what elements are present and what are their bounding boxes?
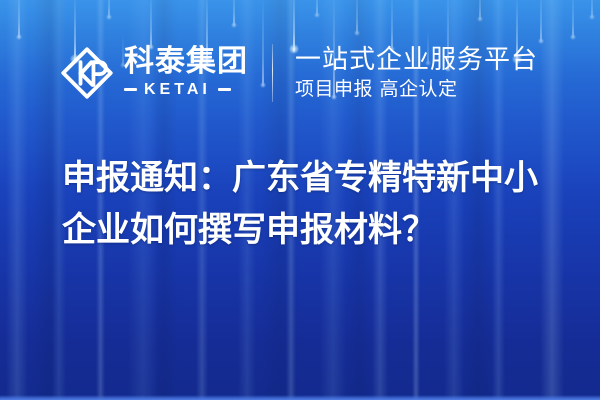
light-particle	[572, 0, 574, 38]
brand-name-cn: 科泰集团	[124, 47, 248, 78]
light-particle	[356, 0, 358, 34]
header-divider	[272, 44, 273, 102]
light-particle	[391, 0, 393, 50]
slogan-block: 一站式企业服务平台 项目申报 高企认定	[295, 46, 538, 99]
light-particle	[591, 0, 593, 18]
light-particle	[316, 0, 318, 16]
wordmark-dash-right	[218, 88, 231, 91]
slogan-sub-text: 项目申报 高企认定	[295, 79, 538, 100]
wordmark-dash-left	[124, 88, 137, 91]
light-particle	[18, 0, 20, 38]
light-particle	[540, 0, 542, 42]
promo-banner: 科泰集团 KETAI 一站式企业服务平台 项目申报 高企认定 申报通知：广东省专…	[0, 0, 600, 400]
brand-name-en: KETAI	[144, 81, 211, 99]
slogan-main-text: 一站式企业服务平台	[295, 46, 538, 75]
ketai-kp-monogram-icon	[60, 46, 114, 100]
brand-wordmark: 科泰集团 KETAI	[124, 47, 248, 99]
headline-title: 申报通知：广东省专精特新中小企业如何撰写申报材料？	[62, 152, 554, 256]
banner-header: 科泰集团 KETAI 一站式企业服务平台 项目申报 高企认定	[60, 44, 538, 102]
brand-name-en-row: KETAI	[124, 81, 248, 99]
background-bottom-edge	[0, 395, 600, 400]
light-particle	[233, 0, 235, 26]
light-particle	[479, 0, 481, 20]
light-particle	[150, 0, 152, 48]
light-particle	[108, 0, 110, 18]
brand-logo[interactable]: 科泰集团 KETAI	[60, 46, 248, 100]
